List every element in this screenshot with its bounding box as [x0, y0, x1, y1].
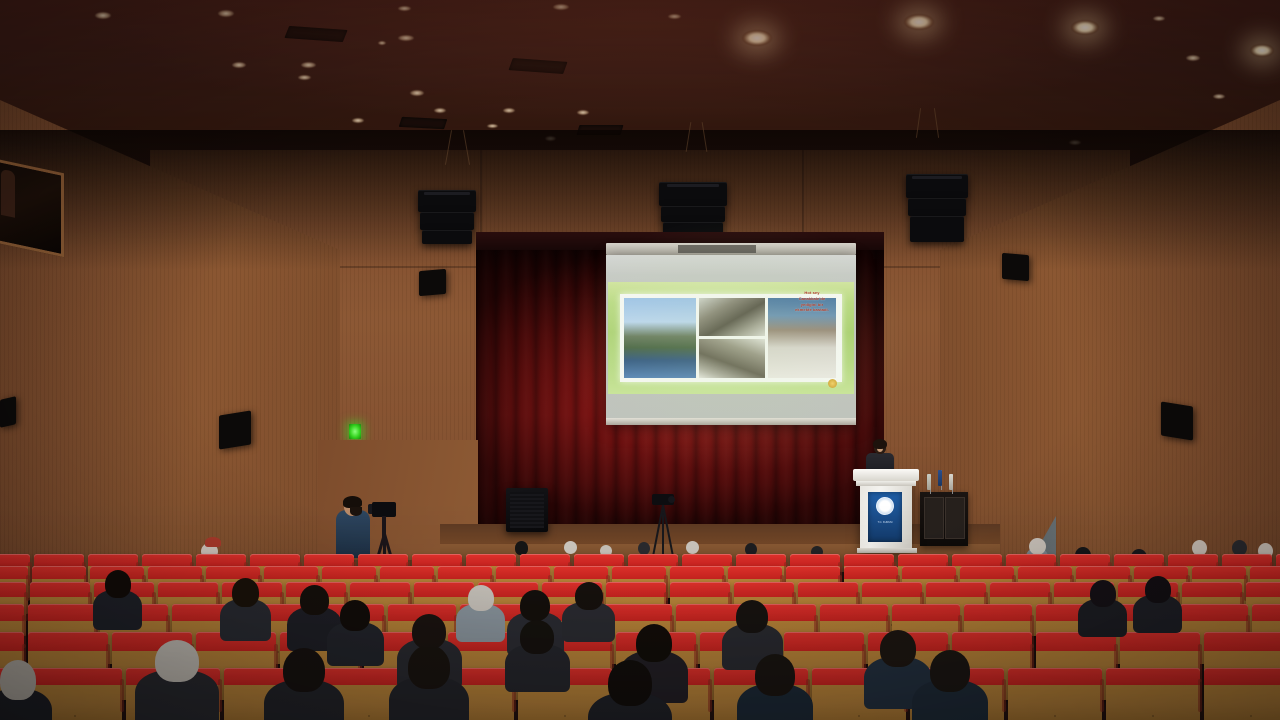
screen-bottom-weight-bar: [606, 418, 856, 425]
speaker-grille: [510, 492, 544, 528]
seat-headrest: [304, 554, 354, 566]
seat-headrest: [574, 554, 624, 566]
seat-headrest: [784, 632, 864, 651]
auditorium-seat[interactable]: [1008, 668, 1102, 720]
audience-head: [412, 614, 446, 649]
line-array-speaker-left: [418, 190, 476, 212]
seat-headrest: [1192, 566, 1246, 579]
videographer-beard: [350, 507, 362, 516]
seat-headrest: [1204, 668, 1280, 685]
seat-headrest: [670, 566, 724, 579]
ceiling-light-bright: [1071, 20, 1099, 35]
ceiling-light: [577, 110, 589, 115]
seat-headrest: [952, 554, 1002, 566]
slide-highlight-marker: [828, 379, 837, 388]
seat-headrest: [0, 554, 30, 566]
seat-headrest: [1250, 566, 1280, 579]
ceiling-light: [1069, 140, 1081, 145]
audience-head: [283, 648, 325, 692]
seat-armrest: [708, 679, 712, 712]
audience-head: [686, 541, 699, 554]
seat-bolt: [858, 715, 860, 717]
wall-speaker-left: [419, 269, 446, 296]
screen-roller-housing: [606, 243, 856, 255]
wall-speaker-far-left: [219, 410, 251, 449]
seat-headrest: [1182, 582, 1242, 597]
coastal-landscape-photo: [624, 298, 696, 378]
podium-panel-text: T.C. KURUM: [878, 521, 893, 525]
speaker-rigging-bar: [912, 176, 962, 179]
fossil-closeup-photo-2: [699, 339, 765, 378]
ceiling-light: [378, 41, 386, 45]
seat-headrest: [1006, 554, 1056, 566]
auditorium-photo: Hot sey Canakkale'de yedigini bir ekmekt…: [0, 0, 1280, 720]
ceiling-vent: [284, 26, 347, 42]
ceiling-vent: [577, 125, 624, 135]
seat-headrest: [142, 554, 192, 566]
ceiling-light: [301, 62, 316, 68]
ceiling-light: [434, 108, 446, 113]
ceiling-light: [503, 108, 515, 113]
podium-base: [857, 548, 917, 553]
seat-headrest: [28, 604, 96, 621]
seat-headrest: [798, 582, 858, 597]
seat-headrest: [926, 582, 986, 597]
exit-sign-icon: [349, 424, 361, 439]
audience-head: [1090, 580, 1116, 607]
ceiling-light: [545, 136, 556, 141]
slide-caption-text: Hot sey Canakkale'de yedigini bir ekmekt…: [776, 290, 848, 313]
audience-head: [930, 650, 970, 692]
wall-speaker-far-right: [1161, 401, 1193, 440]
wall-speaker-far-left: [0, 396, 16, 428]
audience-head: [608, 660, 652, 706]
ceiling-light: [352, 118, 364, 123]
seat-headrest: [32, 566, 86, 579]
seat-headrest: [1114, 554, 1164, 566]
audience-head: [515, 541, 528, 555]
seat-bolt: [1250, 715, 1252, 717]
slide-caption-line: ekmekte bastadi.: [776, 307, 848, 313]
audience-head: [520, 620, 554, 654]
seat-headrest: [520, 554, 570, 566]
seat-headrest: [0, 582, 26, 597]
table-flag: [938, 470, 942, 486]
seat-headrest: [148, 566, 202, 579]
seat-headrest: [892, 604, 960, 621]
seat-headrest: [902, 566, 956, 579]
line-array-speaker-right: [906, 174, 968, 198]
seat-headrest: [0, 604, 24, 621]
ceiling: [0, 0, 1280, 175]
screen-housing-bracket: [678, 245, 756, 253]
ceiling-light: [218, 10, 234, 17]
seat-headrest: [250, 554, 300, 566]
audience-head: [408, 645, 450, 689]
seat-headrest: [1120, 632, 1200, 651]
seat-headrest: [88, 554, 138, 566]
seat-headrest: [1276, 554, 1280, 566]
seat-headrest: [786, 566, 840, 579]
seat-headrest: [1076, 566, 1130, 579]
seat-headrest: [728, 566, 782, 579]
seat-headrest: [1008, 668, 1102, 685]
seat-headrest: [952, 632, 1032, 651]
seat-headrest: [612, 566, 666, 579]
seat-headrest: [1222, 554, 1272, 566]
table-door-panel: [924, 497, 944, 539]
podium-display-panel: T.C. KURUM: [868, 492, 902, 542]
speaker-rigging-bar: [667, 184, 719, 187]
seat-headrest: [554, 566, 608, 579]
audience-head: [105, 570, 131, 598]
seat-headrest: [0, 632, 24, 651]
seat-headrest: [1252, 604, 1280, 621]
ceiling-light: [398, 6, 411, 11]
seat-headrest: [30, 582, 90, 597]
seat-headrest: [676, 604, 744, 621]
standing-attendee-head: [1029, 538, 1046, 555]
line-array-speaker-left: [422, 230, 472, 244]
ceiling-light: [410, 90, 424, 96]
seat-headrest: [1018, 566, 1072, 579]
seat-headrest: [1060, 554, 1110, 566]
seat-headrest: [28, 632, 108, 651]
ceiling-light: [553, 4, 569, 10]
audience-head: [575, 582, 603, 610]
table-flag: [949, 474, 953, 490]
fossil-closeup-photo-1: [699, 298, 765, 336]
audience-hat: [205, 537, 221, 547]
camera-lens-icon: [668, 496, 675, 503]
stage-side-table: [920, 492, 968, 546]
seat-headrest: [1180, 604, 1248, 621]
auditorium-seat[interactable]: [1204, 668, 1280, 720]
line-array-speaker-center: [659, 182, 727, 206]
seat-headrest: [412, 554, 462, 566]
wall-speaker-right: [1002, 253, 1029, 281]
audience-head: [300, 585, 329, 615]
slide-photo-column: [624, 298, 696, 378]
line-array-speaker-right: [910, 216, 964, 242]
ceiling-light: [398, 35, 414, 41]
seat-headrest: [414, 582, 474, 597]
presentation-slide: Hot sey Canakkale'de yedigini bir ekmekt…: [608, 282, 854, 394]
seat-headrest: [1106, 668, 1200, 685]
seat-headrest: [606, 582, 666, 597]
ceiling-light: [1186, 55, 1200, 61]
seat-headrest: [496, 566, 550, 579]
ceiling-light: [668, 14, 681, 19]
seat-headrest: [960, 566, 1014, 579]
control-booth-window: [0, 159, 64, 257]
audience-head: [755, 654, 795, 696]
seat-headrest: [196, 554, 246, 566]
seat-headrest: [628, 554, 678, 566]
ceiling-light: [1213, 94, 1225, 99]
seat-headrest: [844, 566, 898, 579]
seat-headrest: [466, 554, 516, 566]
stage-monitor-speaker: [506, 488, 548, 532]
seat-bolt: [1152, 715, 1154, 717]
ceiling-light: [298, 75, 311, 80]
seat-bolt: [368, 715, 370, 717]
seat-headrest: [1168, 554, 1218, 566]
line-array-speaker-center: [661, 206, 725, 222]
seat-headrest: [158, 582, 218, 597]
seat-headrest: [682, 554, 732, 566]
seat-headrest: [264, 566, 318, 579]
seat-headrest: [350, 582, 410, 597]
ceiling-light: [232, 62, 246, 68]
audience-head: [564, 541, 577, 554]
seat-headrest: [206, 566, 260, 579]
seat-headrest: [964, 604, 1032, 621]
booth-occupant: [1, 169, 15, 218]
seat-headrest: [898, 554, 948, 566]
seat-headrest: [736, 554, 786, 566]
seat-armrest: [1198, 679, 1202, 712]
audience-head: [0, 660, 36, 700]
podium-top-surface: [853, 469, 919, 481]
seat-headrest: [1204, 632, 1280, 651]
videographer-body: [336, 510, 370, 558]
ceiling-light: [487, 124, 498, 128]
ceiling-vent: [399, 117, 447, 129]
seat-headrest: [438, 566, 492, 579]
audience-head: [1145, 576, 1171, 603]
seat-headrest: [790, 554, 840, 566]
ceiling-light-bright: [742, 30, 772, 46]
seat-armrest: [1002, 679, 1006, 712]
seat-headrest: [34, 554, 84, 566]
table-door-panel: [945, 497, 965, 539]
videographer-camera: [372, 502, 396, 517]
seat-headrest: [844, 554, 894, 566]
seat-headrest: [990, 582, 1050, 597]
line-array-speaker-right: [908, 198, 966, 216]
ceiling-vent: [509, 58, 568, 74]
podium-lip: [856, 481, 916, 486]
ceiling-light: [1153, 16, 1165, 21]
audience-head: [736, 600, 768, 633]
seat-armrest: [120, 679, 124, 712]
seat-headrest: [0, 566, 28, 579]
seat-headrest: [28, 668, 122, 685]
institution-emblem-icon: [876, 497, 894, 515]
seat-headrest: [734, 582, 794, 597]
presenter-hair: [873, 439, 887, 449]
projection-screen: Hot sey Canakkale'de yedigini bir ekmekt…: [606, 255, 856, 423]
seat-headrest: [322, 566, 376, 579]
audience-head: [340, 600, 370, 631]
auditorium-seat[interactable]: [1106, 668, 1200, 720]
table-flag: [927, 474, 931, 490]
line-array-speaker-left: [420, 212, 474, 230]
seat-headrest: [670, 582, 730, 597]
slide-photo-column: [699, 298, 765, 378]
seat-bolt: [1054, 715, 1056, 717]
seat-headrest: [358, 554, 408, 566]
seat-headrest: [820, 604, 888, 621]
ceiling-light-bright: [904, 14, 934, 30]
seat-headrest: [1246, 582, 1280, 597]
seat-armrest: [1100, 679, 1104, 712]
seat-bolt: [564, 715, 566, 717]
speaker-rigging-bar: [424, 192, 470, 195]
seat-headrest: [380, 566, 434, 579]
audience-head: [880, 630, 916, 667]
audience-head: [468, 585, 494, 611]
seat-bolt: [74, 715, 76, 717]
audience-head: [232, 578, 259, 607]
audience-head: [636, 624, 672, 662]
audience-head: [520, 590, 550, 621]
seat-headrest: [862, 582, 922, 597]
ceiling-light: [95, 12, 111, 19]
ceiling-light-bright: [1250, 44, 1274, 57]
audience-head: [155, 640, 199, 682]
